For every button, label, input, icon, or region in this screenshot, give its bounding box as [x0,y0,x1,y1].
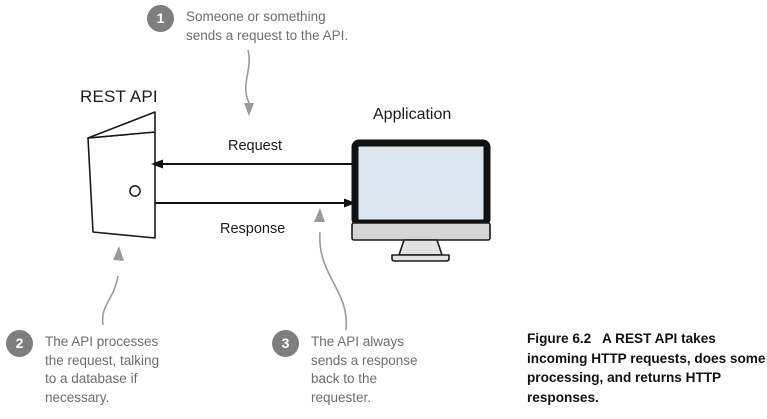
response-label: Response [220,220,285,239]
response-arrow [155,199,356,208]
callout-text-1: Someone or something sends a request to … [186,8,401,45]
monitor-stand [399,240,442,255]
callout-badge-3: 3 [272,330,299,357]
application-monitor-icon [352,143,490,261]
rest-api-label: REST API [80,86,158,108]
monitor-screen [359,147,483,219]
request-arrow [151,160,352,169]
door-knob-icon [130,186,140,196]
callout-1-leader [244,50,254,116]
monitor-stand-foot [392,255,449,261]
callout-3-leader [314,208,346,330]
callout-badge-1: 1 [147,5,174,32]
request-label: Request [228,137,282,156]
application-label: Application [373,104,451,125]
figure-caption-number: Figure 6.2 [527,331,591,346]
callout-badge-2: 2 [6,330,33,357]
callout-text-3: The API always sends a response back to … [311,333,461,407]
callout-text-2: The API processes the request, talking t… [45,333,195,407]
rest-api-door-icon [88,112,155,238]
callout-2-leader [103,246,124,325]
figure-container: REST API Application Request Response 1 … [0,0,767,419]
door-front-panel [88,132,155,238]
figure-caption: Figure 6.2 A REST API takes incoming HTT… [527,329,767,407]
monitor-chin [352,223,490,240]
